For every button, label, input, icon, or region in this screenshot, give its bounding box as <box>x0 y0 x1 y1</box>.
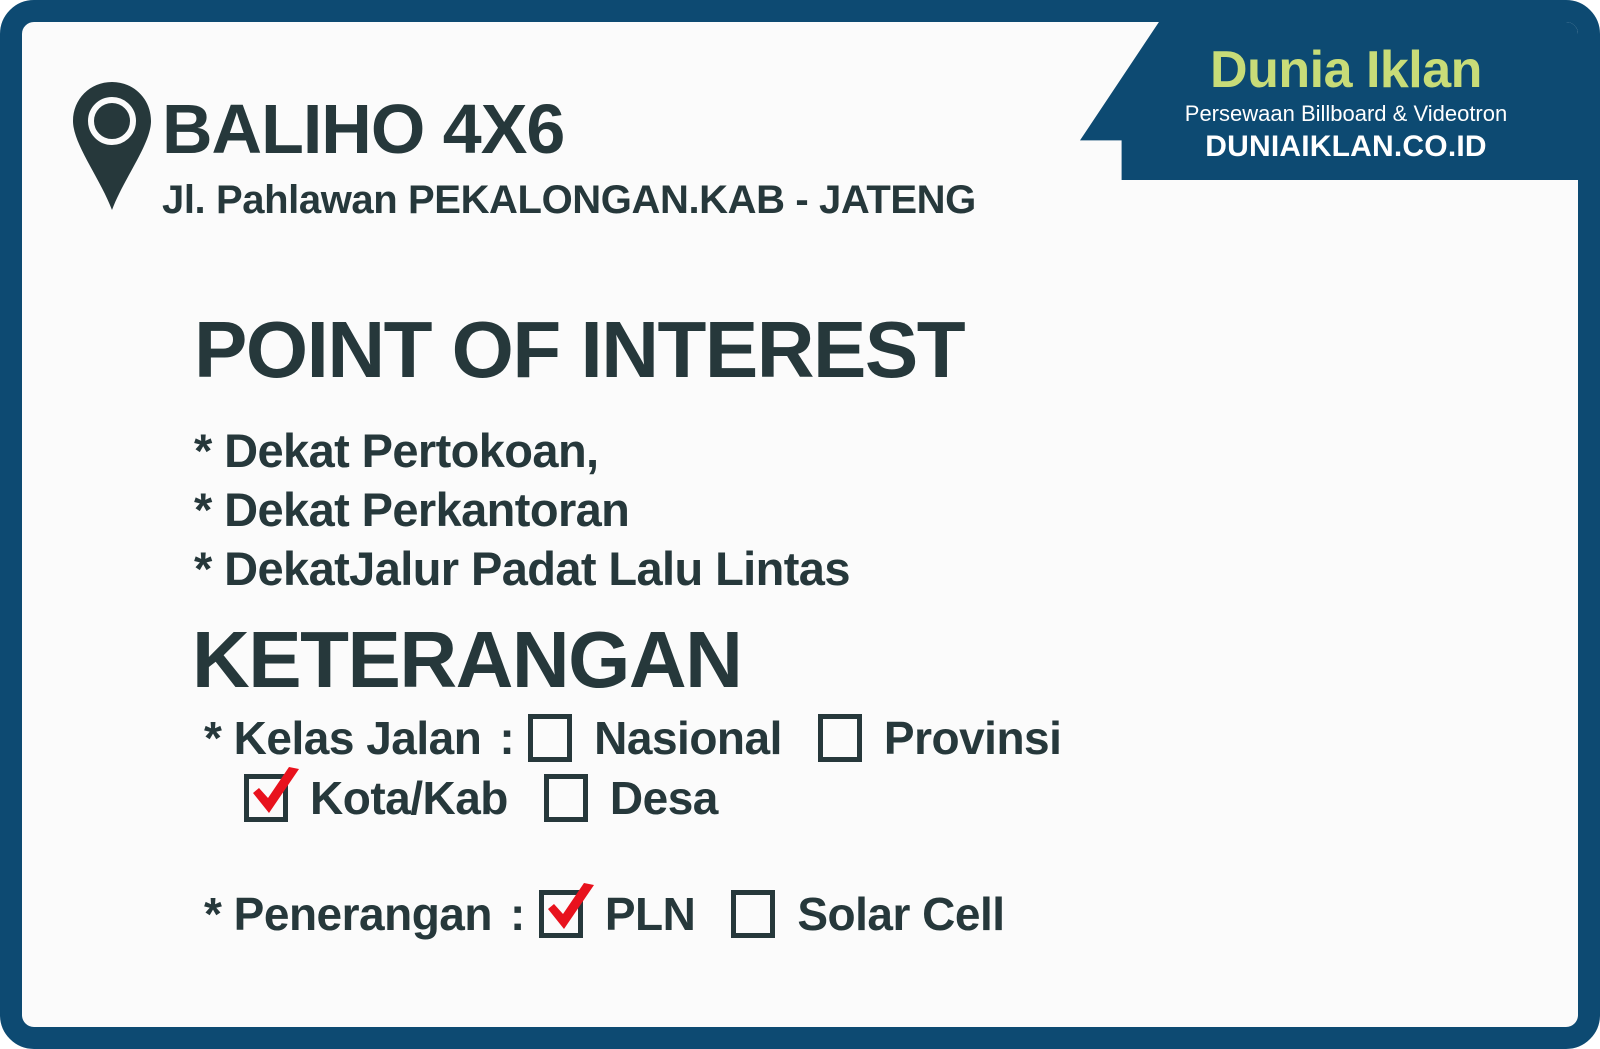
checkbox-label-kota-kab: Kota/Kab <box>310 775 508 821</box>
brand-banner: Dunia Iklan Persewaan Billboard & Videot… <box>1136 44 1556 164</box>
kelas-jalan-group: * Kelas Jalan : Nasional Provinsi <box>204 714 1061 822</box>
kelas-jalan-row-1: * Kelas Jalan : Nasional Provinsi <box>204 714 1061 762</box>
header-block: BALIHO 4X6 Jl. Pahlawan PEKALONGAN.KAB -… <box>70 80 976 222</box>
checkbox-kota-kab[interactable] <box>244 774 288 822</box>
penerangan-group: * Penerangan : PLN Solar Cell <box>204 890 1005 938</box>
checkbox-option-solar-cell[interactable]: Solar Cell <box>731 890 1004 938</box>
brand-tagline: Persewaan Billboard & Videotron <box>1136 100 1556 128</box>
checkbox-label-solar-cell: Solar Cell <box>797 891 1004 937</box>
checkmark-icon <box>540 881 602 943</box>
checkbox-pln[interactable] <box>539 890 583 938</box>
checkbox-option-nasional[interactable]: Nasional <box>528 714 782 762</box>
poi-list: * Dekat Pertokoan, * Dekat Perkantoran *… <box>194 422 850 598</box>
kelas-jalan-row-2: Kota/Kab Desa <box>204 774 1061 822</box>
keterangan-section-title: KETERANGAN <box>192 620 741 700</box>
page-title: BALIHO 4X6 <box>162 94 976 164</box>
checkbox-provinsi[interactable] <box>818 714 862 762</box>
kelas-jalan-label: * Kelas Jalan <box>204 715 481 761</box>
brand-website-url: DUNIAIKLAN.CO.ID <box>1136 130 1556 165</box>
penerangan-row: * Penerangan : PLN Solar Cell <box>204 890 1005 938</box>
billboard-info-card: Dunia Iklan Persewaan Billboard & Videot… <box>0 0 1600 1049</box>
penerangan-colon: : <box>510 891 525 937</box>
header-text: BALIHO 4X6 Jl. Pahlawan PEKALONGAN.KAB -… <box>162 80 976 222</box>
poi-item: * DekatJalur Padat Lalu Lintas <box>194 540 850 599</box>
checkbox-nasional[interactable] <box>528 714 572 762</box>
kelas-jalan-colon: : <box>499 715 514 761</box>
checkbox-option-kota-kab[interactable]: Kota/Kab <box>244 774 508 822</box>
checkmark-icon <box>245 765 307 827</box>
poi-item: * Dekat Pertokoan, <box>194 422 850 481</box>
page-address: Jl. Pahlawan PEKALONGAN.KAB - JATENG <box>162 178 976 222</box>
checkbox-label-nasional: Nasional <box>594 715 782 761</box>
checkbox-option-desa[interactable]: Desa <box>544 774 718 822</box>
poi-section-title: POINT OF INTEREST <box>194 310 964 390</box>
penerangan-label: * Penerangan <box>204 891 492 937</box>
checkbox-label-pln: PLN <box>605 891 696 937</box>
checkbox-option-provinsi[interactable]: Provinsi <box>818 714 1062 762</box>
checkbox-solar-cell[interactable] <box>731 890 775 938</box>
poi-item: * Dekat Perkantoran <box>194 481 850 540</box>
brand-name: Dunia Iklan <box>1136 44 1556 96</box>
location-pin-icon <box>70 80 154 212</box>
checkbox-option-pln[interactable]: PLN <box>539 890 696 938</box>
checkbox-label-desa: Desa <box>610 775 718 821</box>
checkbox-desa[interactable] <box>544 774 588 822</box>
checkbox-label-provinsi: Provinsi <box>884 715 1062 761</box>
